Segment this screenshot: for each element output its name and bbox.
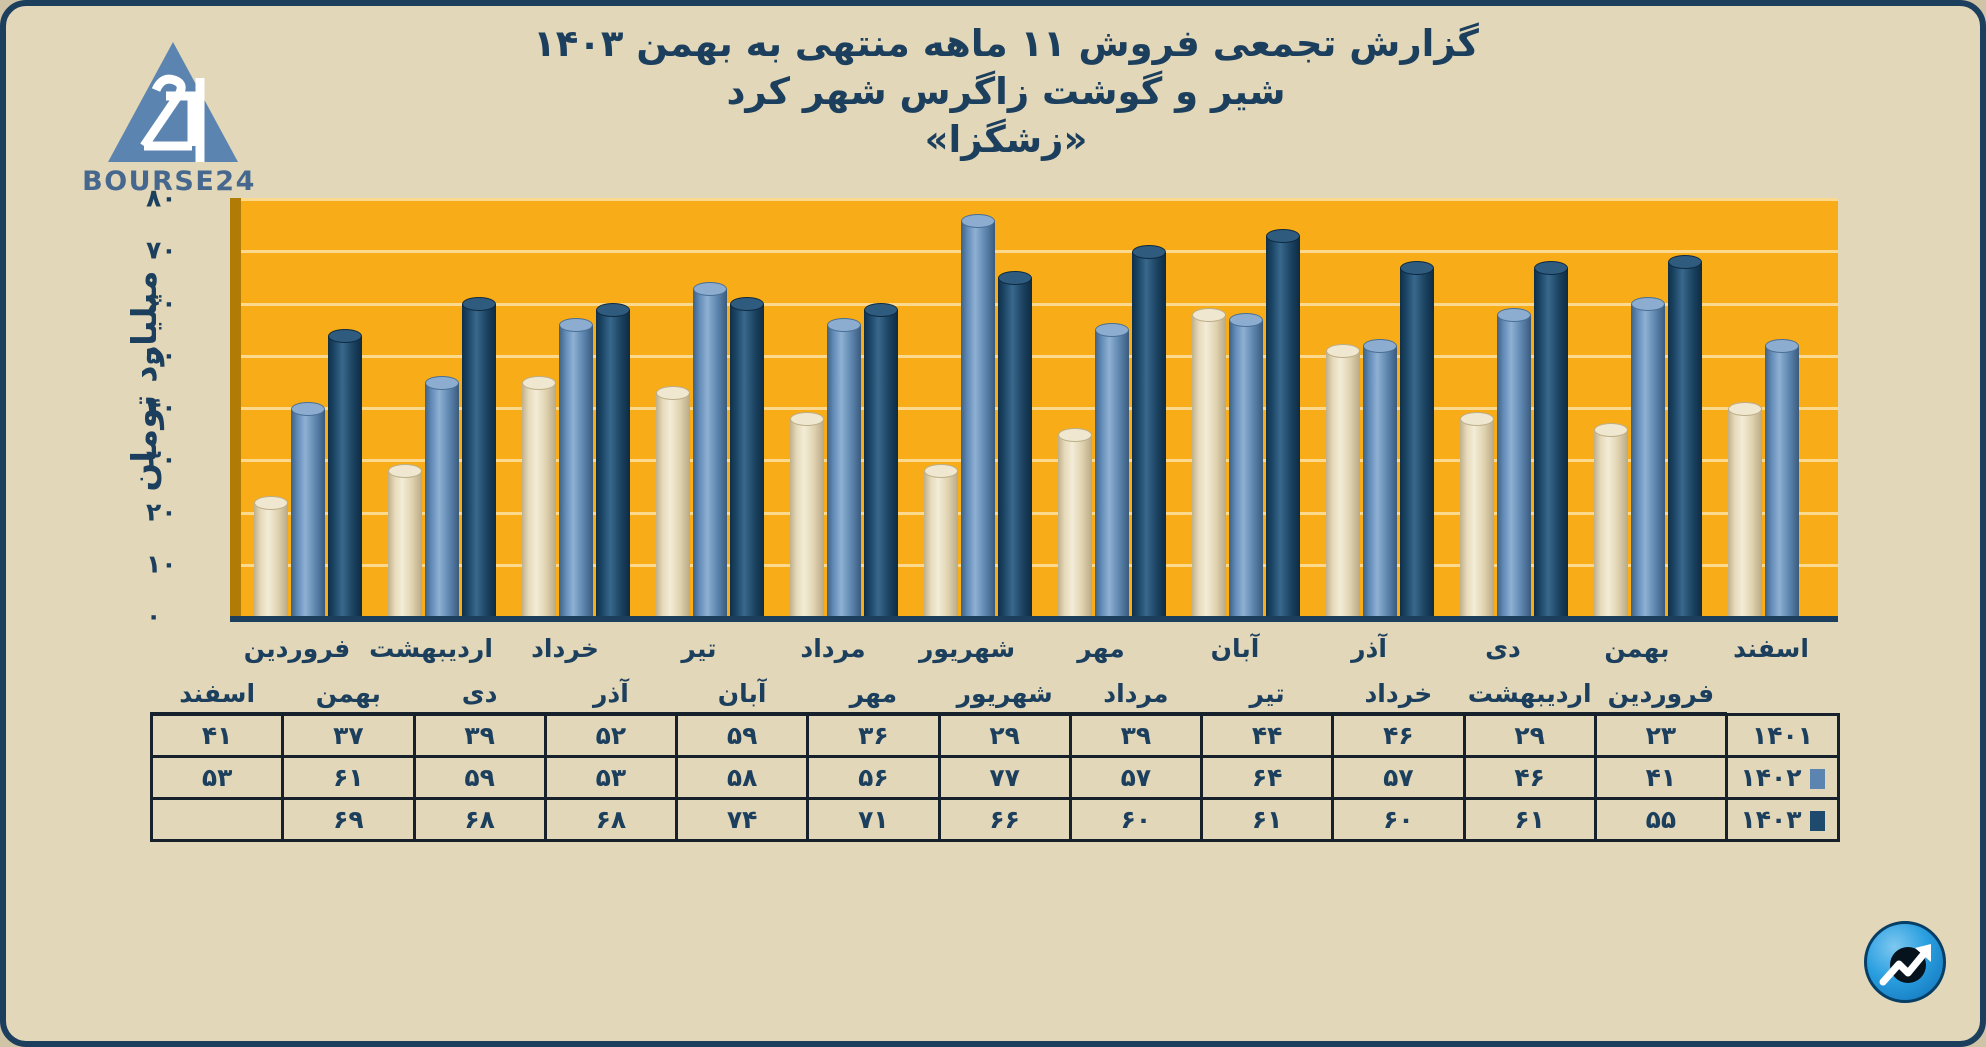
table-col-header: بهمن <box>283 674 414 714</box>
bar-۱۴۰۳-فروردین <box>328 329 362 616</box>
table-cell: ۴۴ <box>1202 714 1333 756</box>
bar-body <box>924 471 958 616</box>
y-tick-label: ۷۰ <box>146 236 216 265</box>
bar-body <box>1534 268 1568 616</box>
legend-label: ۱۴۰۳ <box>1740 805 1801 834</box>
table-cell: ۳۶ <box>808 714 939 756</box>
x-label-اردیبهشت: اردیبهشت <box>364 634 498 663</box>
bar-۱۴۰۲-بهمن <box>1631 297 1665 616</box>
bar-cap <box>1534 261 1568 275</box>
table-cell: ۷۷ <box>939 756 1070 798</box>
bar-group <box>1179 198 1313 616</box>
y-tick-label: ۱۰ <box>146 549 216 578</box>
bar-body <box>790 419 824 616</box>
bar-group <box>1045 198 1179 616</box>
table-col-header: فروردین <box>1595 674 1726 714</box>
bar-cap <box>961 214 995 228</box>
table-row-label-۱۴۰۳: ۱۴۰۳ <box>1727 798 1839 840</box>
uptrend-arrow-icon <box>1875 932 1941 998</box>
table-cell: ۵۳ <box>152 756 283 798</box>
bar-body <box>1460 419 1494 616</box>
bar-group <box>777 198 911 616</box>
x-label-شهریور: شهریور <box>900 634 1034 663</box>
table-cell: ۴۶ <box>1333 714 1464 756</box>
bar-۱۴۰۲-اسفند <box>1765 339 1799 616</box>
table-cell: ۶۹ <box>283 798 414 840</box>
table-cell: ۲۹ <box>1464 714 1595 756</box>
table-cell: ۶۱ <box>1464 798 1595 840</box>
bar-body <box>998 278 1032 616</box>
bar-cap <box>254 496 288 510</box>
bar-cap <box>1594 423 1628 437</box>
table-col-header: دی <box>414 674 545 714</box>
table-cell: ۳۹ <box>414 714 545 756</box>
bar-group <box>911 198 1045 616</box>
legend-label: ۱۴۰۱ <box>1752 721 1813 750</box>
bar-body <box>656 393 690 616</box>
bar-cap <box>425 376 459 390</box>
bar-group <box>1715 198 1838 616</box>
bar-۱۴۰۳-مهر <box>1132 245 1166 616</box>
legend-swatch-icon <box>1810 769 1825 789</box>
y-tick-label: ۵۰ <box>146 340 216 369</box>
bar-body <box>328 336 362 616</box>
table-cell: ۲۹ <box>939 714 1070 756</box>
table-cell: ۵۲ <box>545 714 676 756</box>
bar-body <box>693 289 727 616</box>
data-table: فروردیناردیبهشتخردادتیرمردادشهریورمهرآبا… <box>150 674 1840 842</box>
bar-body <box>291 409 325 616</box>
bar-cap <box>1765 339 1799 353</box>
table-cell: ۵۵ <box>1595 798 1726 840</box>
table-cell: ۶۸ <box>414 798 545 840</box>
bar-cap <box>693 282 727 296</box>
bar-body <box>1266 236 1300 616</box>
bar-group <box>1447 198 1581 616</box>
bar-۱۴۰۳-مرداد <box>864 303 898 617</box>
bar-body <box>864 310 898 617</box>
bar-۱۴۰۱-اسفند <box>1728 402 1762 616</box>
bar-۱۴۰۲-دی <box>1497 308 1531 616</box>
bar-۱۴۰۱-خرداد <box>522 376 556 616</box>
y-tick-label: ۶۰ <box>146 288 216 317</box>
table-cell: ۲۳ <box>1595 714 1726 756</box>
plot-area <box>230 198 1838 616</box>
bar-۱۴۰۱-بهمن <box>1594 423 1628 616</box>
bar-cap <box>1229 313 1263 327</box>
title-line-2: شیر و گوشت زاگرس شهر کرد <box>306 68 1706 116</box>
bar-group <box>1581 198 1715 616</box>
bar-۱۴۰۲-خرداد <box>559 318 593 616</box>
bar-۱۴۰۱-مرداد <box>790 412 824 616</box>
bar-body <box>462 304 496 616</box>
table-row: ۱۴۰۱۲۳۲۹۴۶۴۴۳۹۲۹۳۶۵۹۵۲۳۹۳۷۴۱ <box>152 714 1839 756</box>
table-cell: ۶۶ <box>939 798 1070 840</box>
bar-۱۴۰۲-مرداد <box>827 318 861 616</box>
table-cell: ۶۴ <box>1202 756 1333 798</box>
table-corner-cell <box>1727 674 1839 714</box>
bar-۱۴۰۲-شهریور <box>961 214 995 616</box>
legend-label: ۱۴۰۲ <box>1740 763 1801 792</box>
bar-۱۴۰۲-مهر <box>1095 323 1129 616</box>
bar-cap <box>1497 308 1531 322</box>
bar-۱۴۰۱-شهریور <box>924 464 958 616</box>
table-cell: ۶۰ <box>1333 798 1464 840</box>
bar-group <box>1313 198 1447 616</box>
bar-body <box>1058 435 1092 616</box>
table-cell: ۵۶ <box>808 756 939 798</box>
table-cell: ۶۸ <box>545 798 676 840</box>
bar-body <box>254 503 288 616</box>
bar-۱۴۰۱-فروردین <box>254 496 288 616</box>
bar-body <box>522 383 556 616</box>
y-tick-label: ۲۰ <box>146 497 216 526</box>
table-col-header: مهر <box>808 674 939 714</box>
bar-body <box>1229 320 1263 616</box>
table-row-label-۱۴۰۲: ۱۴۰۲ <box>1727 756 1839 798</box>
table-col-header: تیر <box>1202 674 1333 714</box>
chart-poster: BOURSE24 گزارش تجمعی فروش ۱۱ ماهه منتهی … <box>0 0 1986 1047</box>
table-cell: ۷۱ <box>808 798 939 840</box>
x-axis-labels: فروردیناردیبهشتخردادتیرمردادشهریورمهرآبا… <box>230 634 1838 674</box>
table-cell: ۵۷ <box>1333 756 1464 798</box>
bar-body <box>827 325 861 616</box>
legend-swatch-icon <box>1810 811 1825 831</box>
table-cell: ۴۱ <box>1595 756 1726 798</box>
bar-۱۴۰۳-آبان <box>1266 229 1300 616</box>
x-axis-line <box>230 616 1838 622</box>
table-row: ۱۴۰۲۴۱۴۶۵۷۶۴۵۷۷۷۵۶۵۸۵۳۵۹۶۱۵۳ <box>152 756 1839 798</box>
bar-body <box>1326 351 1360 616</box>
trend-arrow-badge <box>1864 921 1946 1003</box>
bar-cap <box>596 303 630 317</box>
table-cell <box>152 798 283 840</box>
bar-۱۴۰۱-آذر <box>1326 344 1360 616</box>
table-cell: ۶۱ <box>283 756 414 798</box>
x-label-بهمن: بهمن <box>1570 634 1704 663</box>
bar-body <box>1765 346 1799 616</box>
bar-cap <box>1728 402 1762 416</box>
bar-cap <box>1363 339 1397 353</box>
table-cell: ۵۳ <box>545 756 676 798</box>
title-line-1: گزارش تجمعی فروش ۱۱ ماهه منتهی به بهمن ۱… <box>306 20 1706 68</box>
bar-۱۴۰۲-فروردین <box>291 402 325 616</box>
bar-۱۴۰۲-آبان <box>1229 313 1263 616</box>
bar-body <box>1095 330 1129 616</box>
bar-۱۴۰۳-دی <box>1534 261 1568 616</box>
table-cell: ۵۹ <box>677 714 808 756</box>
bar-chart: میلیارد تومان ۰۱۰۲۰۳۰۴۰۵۰۶۰۷۰۸۰ <box>148 198 1838 628</box>
y-tick-label: ۸۰ <box>146 184 216 213</box>
bar-group <box>375 198 509 616</box>
bar-body <box>730 304 764 616</box>
bar-۱۴۰۲-تیر <box>693 282 727 616</box>
table-col-header: خرداد <box>1333 674 1464 714</box>
table-cell: ۷۴ <box>677 798 808 840</box>
bar-cap <box>328 329 362 343</box>
bar-body <box>1132 252 1166 616</box>
bar-group <box>643 198 777 616</box>
bar-cap <box>1132 245 1166 259</box>
table-col-header: مرداد <box>1070 674 1201 714</box>
table-cell: ۳۹ <box>1070 714 1201 756</box>
table-col-header: اردیبهشت <box>1464 674 1595 714</box>
table-cell: ۵۸ <box>677 756 808 798</box>
y-tick-label: ۴۰ <box>146 393 216 422</box>
page-title: گزارش تجمعی فروش ۱۱ ماهه منتهی به بهمن ۱… <box>306 20 1706 164</box>
x-label-خرداد: خرداد <box>498 634 632 663</box>
bar-cap <box>656 386 690 400</box>
bar-body <box>961 221 995 616</box>
brand-logo: BOURSE24 <box>54 38 284 203</box>
bar-body <box>1728 409 1762 616</box>
x-label-مرداد: مرداد <box>766 634 900 663</box>
bar-۱۴۰۱-مهر <box>1058 428 1092 616</box>
bar-body <box>1497 315 1531 616</box>
bar-cap <box>1400 261 1434 275</box>
table-cell: ۵۷ <box>1070 756 1201 798</box>
bar-۱۴۰۳-آذر <box>1400 261 1434 616</box>
bar-cap <box>522 376 556 390</box>
bar-۱۴۰۲-اردیبهشت <box>425 376 459 616</box>
bar-cap <box>291 402 325 416</box>
y-tick-label: ۰ <box>146 602 216 631</box>
bar-body <box>425 383 459 616</box>
x-label-فروردین: فروردین <box>230 634 364 663</box>
x-label-آبان: آبان <box>1168 634 1302 663</box>
table-col-header: اسفند <box>152 674 283 714</box>
bar-body <box>596 310 630 617</box>
table-cell: ۶۱ <box>1202 798 1333 840</box>
table-row: ۱۴۰۳۵۵۶۱۶۰۶۱۶۰۶۶۷۱۷۴۶۸۶۸۶۹ <box>152 798 1839 840</box>
y-axis-ticks: ۰۱۰۲۰۳۰۴۰۵۰۶۰۷۰۸۰ <box>148 198 226 628</box>
bar-۱۴۰۱-دی <box>1460 412 1494 616</box>
bar-body <box>1594 430 1628 616</box>
bar-۱۴۰۱-آبان <box>1192 308 1226 616</box>
bar-۱۴۰۱-اردیبهشت <box>388 464 422 616</box>
bar-body <box>1363 346 1397 616</box>
x-label-تیر: تیر <box>632 634 766 663</box>
x-label-اسفند: اسفند <box>1704 634 1838 663</box>
x-label-دی: دی <box>1436 634 1570 663</box>
bar-۱۴۰۳-بهمن <box>1668 255 1702 616</box>
table-row-label-۱۴۰۱: ۱۴۰۱ <box>1727 714 1839 756</box>
bar-body <box>1400 268 1434 616</box>
bar-۱۴۰۳-شهریور <box>998 271 1032 616</box>
bar-body <box>1631 304 1665 616</box>
table-header-row: فروردیناردیبهشتخردادتیرمردادشهریورمهرآبا… <box>152 674 1839 714</box>
table-col-header: آبان <box>677 674 808 714</box>
bar-cap <box>864 303 898 317</box>
x-label-مهر: مهر <box>1034 634 1168 663</box>
y-tick-label: ۳۰ <box>146 445 216 474</box>
bar-body <box>559 325 593 616</box>
table-cell: ۳۷ <box>283 714 414 756</box>
table-cell: ۶۰ <box>1070 798 1201 840</box>
bar-۱۴۰۳-اردیبهشت <box>462 297 496 616</box>
bar-۱۴۰۱-تیر <box>656 386 690 616</box>
table-cell: ۴۱ <box>152 714 283 756</box>
table-col-header: شهریور <box>939 674 1070 714</box>
bar-cap <box>1192 308 1226 322</box>
x-label-آذر: آذر <box>1302 634 1436 663</box>
triangle-24-icon <box>106 38 240 166</box>
table-col-header: آذر <box>545 674 676 714</box>
bar-cap <box>1058 428 1092 442</box>
bar-group <box>241 198 375 616</box>
table-cell: ۵۹ <box>414 756 545 798</box>
bar-body <box>388 471 422 616</box>
bar-۱۴۰۳-خرداد <box>596 303 630 617</box>
bar-۱۴۰۳-تیر <box>730 297 764 616</box>
bar-۱۴۰۲-آذر <box>1363 339 1397 616</box>
bar-body <box>1192 315 1226 616</box>
title-line-3: «زشگزا» <box>306 116 1706 164</box>
table-cell: ۴۶ <box>1464 756 1595 798</box>
bar-group <box>509 198 643 616</box>
bar-body <box>1668 262 1702 616</box>
